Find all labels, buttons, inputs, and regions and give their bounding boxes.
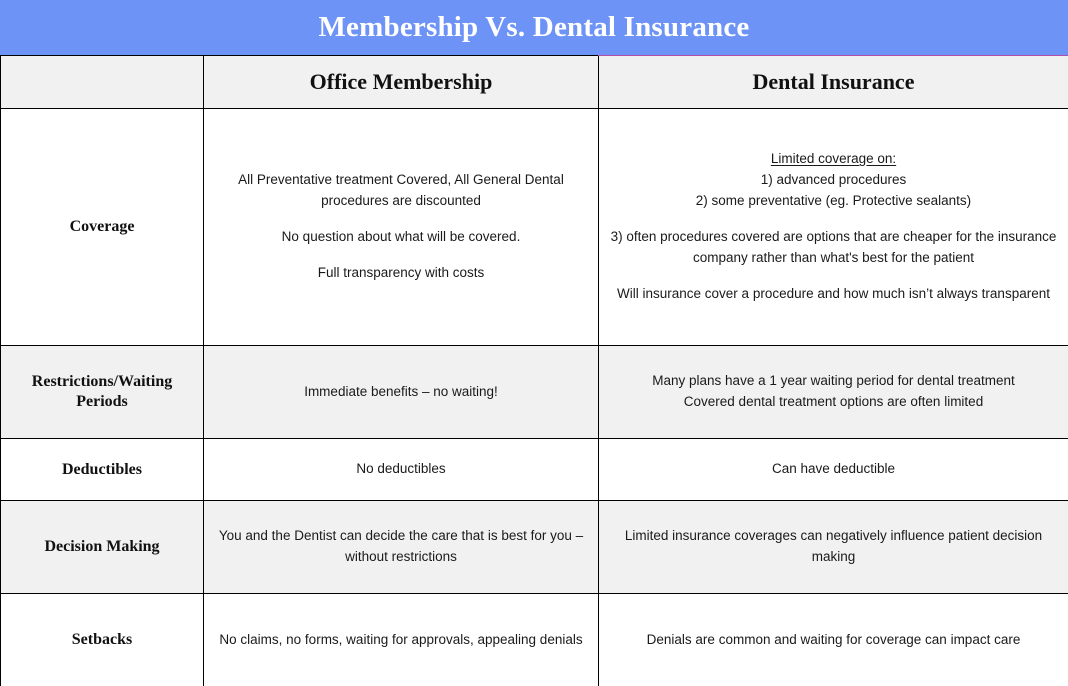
page-title: Membership Vs. Dental Insurance bbox=[318, 13, 749, 42]
row-label-deductibles: Deductibles bbox=[1, 439, 204, 501]
restrictions-insurance-line-2: Covered dental treatment options are oft… bbox=[609, 392, 1058, 413]
decision-membership-line-1: You and the Dentist can decide the care … bbox=[214, 526, 588, 568]
coverage-insurance-note: Will insurance cover a procedure and how… bbox=[609, 284, 1058, 305]
cell-coverage-insurance: Limited coverage on: 1) advanced procedu… bbox=[599, 109, 1068, 346]
header-dental-insurance-label: Dental Insurance bbox=[607, 70, 1060, 94]
restrictions-membership-line-1: Immediate benefits – no waiting! bbox=[214, 382, 588, 403]
membership-vs-insurance-table: Office Membership Dental Insurance Cover… bbox=[0, 55, 1068, 686]
cell-setbacks-membership: No claims, no forms, waiting for approva… bbox=[204, 594, 599, 686]
title-banner: Membership Vs. Dental Insurance bbox=[0, 0, 1068, 55]
coverage-membership-line-3: Full transparency with costs bbox=[214, 263, 588, 284]
header-office-membership: Office Membership bbox=[204, 56, 599, 109]
coverage-insurance-heading: Limited coverage on: bbox=[609, 149, 1058, 170]
restrictions-insurance-line-1: Many plans have a 1 year waiting period … bbox=[609, 371, 1058, 392]
cell-deductibles-insurance: Can have deductible bbox=[599, 439, 1068, 501]
table-header-row: Office Membership Dental Insurance bbox=[1, 56, 1068, 109]
deductibles-membership-line-1: No deductibles bbox=[214, 459, 588, 480]
row-label-decision-making: Decision Making bbox=[1, 501, 204, 594]
table-row-deductibles: Deductibles No deductibles Can have dedu… bbox=[1, 439, 1068, 501]
setbacks-insurance-line-1: Denials are common and waiting for cover… bbox=[609, 630, 1058, 651]
table-row-decision-making: Decision Making You and the Dentist can … bbox=[1, 501, 1068, 594]
row-label-restrictions: Restrictions/Waiting Periods bbox=[1, 346, 204, 439]
header-corner-blank bbox=[1, 56, 204, 109]
table-row-coverage: Coverage All Preventative treatment Cove… bbox=[1, 109, 1068, 346]
coverage-membership-line-2: No question about what will be covered. bbox=[214, 227, 588, 248]
accent-rule-divider bbox=[598, 55, 1068, 56]
coverage-insurance-item-1: 1) advanced procedures bbox=[609, 170, 1058, 191]
setbacks-membership-line-1: No claims, no forms, waiting for approva… bbox=[214, 630, 588, 651]
deductibles-insurance-line-1: Can have deductible bbox=[609, 459, 1058, 480]
cell-decision-membership: You and the Dentist can decide the care … bbox=[204, 501, 599, 594]
cell-setbacks-insurance: Denials are common and waiting for cover… bbox=[599, 594, 1068, 686]
header-office-membership-label: Office Membership bbox=[212, 70, 590, 94]
table-row-setbacks: Setbacks No claims, no forms, waiting fo… bbox=[1, 594, 1068, 686]
cell-coverage-membership: All Preventative treatment Covered, All … bbox=[204, 109, 599, 346]
row-label-coverage: Coverage bbox=[1, 109, 204, 346]
coverage-insurance-item-2: 2) some preventative (eg. Protective sea… bbox=[609, 191, 1058, 212]
cell-restrictions-insurance: Many plans have a 1 year waiting period … bbox=[599, 346, 1068, 439]
cell-restrictions-membership: Immediate benefits – no waiting! bbox=[204, 346, 599, 439]
coverage-membership-line-1: All Preventative treatment Covered, All … bbox=[214, 170, 588, 212]
cell-deductibles-membership: No deductibles bbox=[204, 439, 599, 501]
header-dental-insurance: Dental Insurance bbox=[599, 56, 1068, 109]
table-row-restrictions: Restrictions/Waiting Periods Immediate b… bbox=[1, 346, 1068, 439]
comparison-table-page: Membership Vs. Dental Insurance Office M… bbox=[0, 0, 1068, 686]
coverage-insurance-item-3: 3) often procedures covered are options … bbox=[609, 227, 1058, 269]
decision-insurance-line-1: Limited insurance coverages can negative… bbox=[609, 526, 1058, 568]
cell-decision-insurance: Limited insurance coverages can negative… bbox=[599, 501, 1068, 594]
row-label-setbacks: Setbacks bbox=[1, 594, 204, 686]
